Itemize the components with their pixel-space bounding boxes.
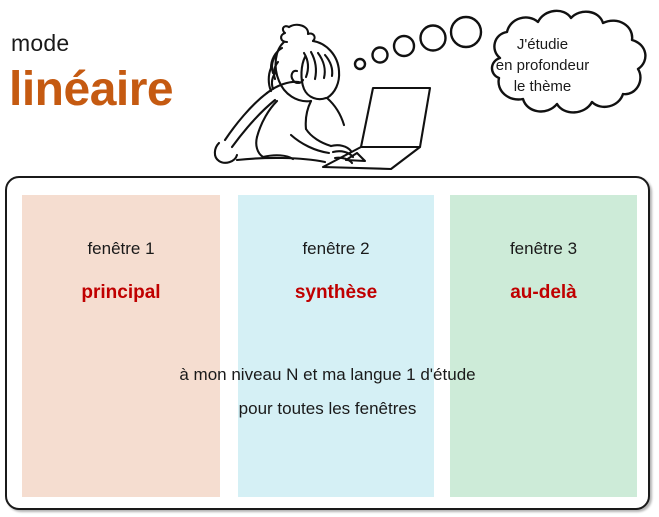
window-name-3: au-delà xyxy=(450,282,637,304)
window-label-1: fenêtre 1 xyxy=(22,239,220,259)
window-label-3: fenêtre 3 xyxy=(450,239,637,259)
window-column-1[interactable]: fenêtre 1 principal xyxy=(22,195,220,497)
window-label-2: fenêtre 2 xyxy=(238,239,434,259)
thought-bubble-icon xyxy=(338,4,659,129)
page-title: linéaire xyxy=(9,63,173,117)
window-name-2: synthèse xyxy=(238,282,434,304)
header: mode linéaire xyxy=(0,0,659,175)
windows-panel: fenêtre 1 principal fenêtre 2 synthèse f… xyxy=(5,176,650,510)
mode-label: mode xyxy=(11,30,69,56)
window-name-1: principal xyxy=(22,282,220,304)
window-column-3[interactable]: fenêtre 3 au-delà xyxy=(450,195,637,497)
window-column-2[interactable]: fenêtre 2 synthèse xyxy=(238,195,434,497)
